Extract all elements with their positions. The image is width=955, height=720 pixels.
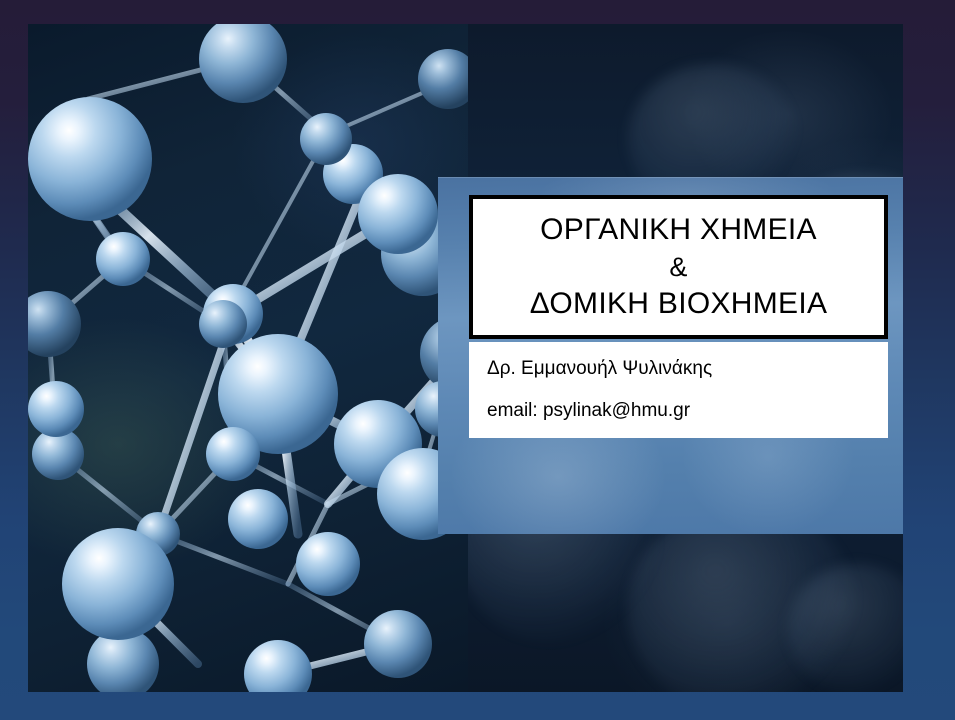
title-line-ampersand: &	[669, 250, 687, 284]
author-email: email: psylinak@hmu.gr	[487, 400, 888, 422]
background-bubble	[788, 564, 903, 692]
slide-frame: ΟΡΓΑΝΙΚΗ ΧΗΜΕΙΑ & ΔΟΜΙΚΗ ΒΙΟΧΗΜΕΙΑ Δρ. Ε…	[0, 0, 955, 720]
title-line-2: ΔΟΜΙΚΗ ΒΙΟΧΗΜΕΙΑ	[530, 284, 828, 324]
title-box: ΟΡΓΑΝΙΚΗ ΧΗΜΕΙΑ & ΔΟΜΙΚΗ ΒΙΟΧΗΜΕΙΑ	[469, 195, 888, 339]
molecule-illustration	[28, 24, 468, 692]
title-line-1: ΟΡΓΑΝΙΚΗ ΧΗΜΕΙΑ	[540, 210, 817, 250]
slide-content-area: ΟΡΓΑΝΙΚΗ ΧΗΜΕΙΑ & ΔΟΜΙΚΗ ΒΙΟΧΗΜΕΙΑ Δρ. Ε…	[28, 24, 903, 692]
author-name: Δρ. Εμμανουήλ Ψυλινάκης	[487, 358, 888, 380]
subtitle-box: Δρ. Εμμανουήλ Ψυλινάκης email: psylinak@…	[469, 342, 888, 438]
